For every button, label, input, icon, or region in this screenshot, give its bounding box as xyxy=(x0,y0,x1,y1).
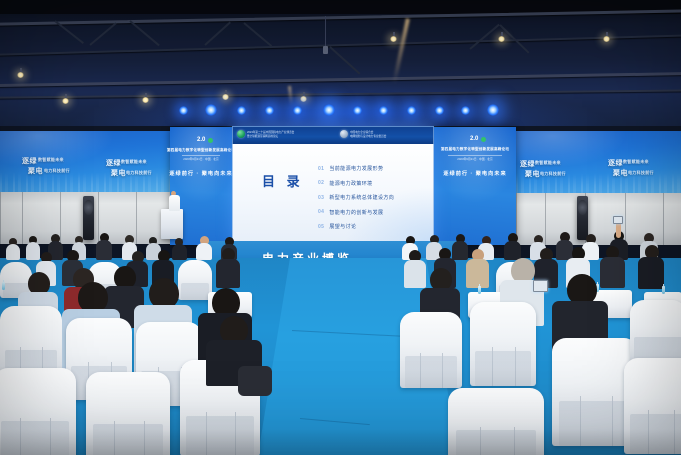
truss-diagonal xyxy=(89,22,116,45)
audience-chair xyxy=(630,300,681,364)
toc-item: 01 当前能源电力发展形势 xyxy=(318,165,428,172)
wall-banner-left-title: 逐绿 xyxy=(22,156,37,166)
presenter-speaker xyxy=(168,191,180,211)
wall-banner-left-sub1: 数智赋能未来 xyxy=(38,157,64,163)
drop-fixture-box xyxy=(323,46,328,54)
audience-member xyxy=(238,366,272,400)
ceiling-lamp-icon xyxy=(498,36,505,42)
ceiling-lamp-icon xyxy=(603,36,610,42)
smartphone-screen xyxy=(533,280,548,292)
toc-item: 02 能源电力政策环境 xyxy=(318,180,428,187)
toc-item: 05 展望与讨论 xyxy=(318,223,428,230)
wall-banner-right-title: 逐绿 xyxy=(520,159,535,169)
water-bottle xyxy=(662,286,665,294)
emblem-logo-icon xyxy=(340,130,348,138)
tower-left-logo-dot-icon xyxy=(208,138,213,143)
tower-left-sub: 2023年9月21日 · 中国 · 北京 xyxy=(183,157,218,161)
tower-left-heading: 第四届电力数字化转型创新发展高峰论坛 xyxy=(167,148,235,153)
slide-header-right-line1: 中国电力企业联合会 xyxy=(350,131,386,134)
slide-title: 目 录 xyxy=(262,171,304,190)
wall-banner-left-title2: 聚电 xyxy=(28,166,43,176)
ceiling-lamp-icon xyxy=(390,36,397,42)
wall-banner-right-sub2-b: 电力科技前行 xyxy=(628,170,654,176)
wall-banner-left-sub1-b: 数智赋能未来 xyxy=(121,159,147,165)
slide-header-right-text: 中国电力企业联合会 电网规划与设计电力专业委员会 xyxy=(350,131,386,138)
ceiling xyxy=(0,0,681,132)
audience-chair xyxy=(400,312,462,388)
wall-banner-right-sub1-b: 数智赋能未来 xyxy=(623,159,649,165)
conference-hall-photo: 逐绿 数智赋能未来 聚电 电力科技前行 逐绿 数智赋能未来 聚电 电力科技前行 … xyxy=(0,0,681,455)
smartphone-screen xyxy=(613,216,623,224)
slide-header-bar: 2023年第二十届中国国际电力产业博览会 暨全球能源互联网高峰论坛 中国电力企业… xyxy=(232,126,434,144)
roof-truss-beam xyxy=(0,34,681,56)
tower-right-sub: 2023年9月21日 · 中国 · 北京 xyxy=(457,157,492,161)
presentation-screen[interactable]: 2023年第二十届中国国际电力产业博览会 暨全球能源互联网高峰论坛 中国电力企业… xyxy=(232,126,434,242)
ceiling-lamp-icon xyxy=(62,98,69,104)
toc-number: 04 xyxy=(318,209,324,215)
slide-header-right-logo-group: 中国电力企业联合会 电网规划与设计电力专业委员会 xyxy=(340,130,386,138)
audience-member xyxy=(6,238,20,260)
audience-chair xyxy=(624,358,681,454)
wall-banner-right-sub2: 电力科技前行 xyxy=(540,171,566,177)
ceiling-lamp-icon xyxy=(142,97,149,103)
podium xyxy=(161,209,183,239)
wall-banner-left-sub2-b: 电力科技前行 xyxy=(126,170,152,176)
toc-label: 当前能源电力发展形势 xyxy=(329,165,383,172)
ceiling-lamp-icon xyxy=(17,72,24,78)
slide-header-left-line2: 暨全球能源互联网高峰论坛 xyxy=(247,135,294,138)
wall-banner-right-sub1: 数智赋能未来 xyxy=(535,160,561,166)
truss-diagonal xyxy=(469,24,499,50)
audience-member xyxy=(504,233,521,260)
panel-seam xyxy=(22,192,23,244)
wall-banner-left-sub2: 电力科技前行 xyxy=(44,168,70,174)
truss-diagonal xyxy=(129,20,159,46)
audience-chair xyxy=(448,388,544,455)
tower-left-logo: 2.0 xyxy=(197,137,205,143)
audience-chair xyxy=(0,368,76,455)
toc-label: 能源电力政策环境 xyxy=(329,180,372,187)
slide-toc-list: 01 当前能源电力发展形势 02 能源电力政策环境 03 新型电力系统总体建设方… xyxy=(318,165,428,238)
tower-right-logo-dot-icon xyxy=(481,137,486,142)
truss-diagonal xyxy=(243,22,272,47)
stage-led-bar xyxy=(175,104,505,124)
audience-member xyxy=(638,245,664,289)
audience-member xyxy=(216,248,240,288)
wall-banner-left-title2-b: 聚电 xyxy=(111,168,126,178)
wall-banner-right-title-b: 逐绿 xyxy=(608,158,623,168)
water-bottle xyxy=(2,282,5,290)
audience-member xyxy=(96,233,112,260)
truss-diagonal xyxy=(204,22,231,46)
toc-number: 03 xyxy=(318,195,324,201)
toc-number: 05 xyxy=(318,224,324,230)
audience-chair xyxy=(470,302,536,386)
wall-banner-right-title2-b: 聚电 xyxy=(613,168,628,178)
tower-right-logo: 2.0 xyxy=(470,136,478,142)
toc-label: 新型电力系统总体建设方向 xyxy=(329,194,394,201)
slide-header-left-text: 2023年第二十届中国国际电力产业博览会 暨全球能源互联网高峰论坛 xyxy=(247,131,294,138)
toc-item: 04 智能电力的创新与发展 xyxy=(318,209,428,216)
slide-header-right-line2: 电网规划与设计电力专业委员会 xyxy=(350,135,386,138)
wall-banner-left-title-b: 逐绿 xyxy=(106,158,121,168)
side-banner-tower-right xyxy=(434,127,516,245)
slide-body: 目 录 01 当前能源电力发展形势 02 能源电力政策环境 03 新型电力系统总… xyxy=(232,144,434,242)
globe-logo-icon xyxy=(237,130,245,138)
panel-seam xyxy=(663,193,664,245)
water-bottle xyxy=(478,286,481,294)
tower-left-rule xyxy=(182,155,220,156)
slide-header-left-line1: 2023年第二十届中国国际电力产业博览会 xyxy=(247,131,294,134)
audience-member xyxy=(172,238,187,260)
toc-item: 03 新型电力系统总体建设方向 xyxy=(318,194,428,201)
toc-label: 智能电力的创新与发展 xyxy=(329,209,383,216)
ceiling-drop-cable xyxy=(325,16,326,54)
audience-member xyxy=(466,249,489,288)
toc-label: 展望与讨论 xyxy=(329,223,356,230)
tower-right-rule xyxy=(448,155,502,156)
toc-number: 02 xyxy=(318,180,324,186)
tower-right-tagline: 逐绿前行 · 聚电向未来 xyxy=(443,170,506,177)
audience-chair xyxy=(86,372,170,455)
tower-right-heading: 第四届电力数字化转型创新发展高峰论坛 xyxy=(441,147,509,152)
tower-left-tagline: 逐绿前行 · 聚电向未来 xyxy=(169,170,232,177)
toc-number: 01 xyxy=(318,166,324,172)
slide-header-left-logo-group: 2023年第二十届中国国际电力产业博览会 暨全球能源互联网高峰论坛 xyxy=(237,130,294,138)
pa-speaker-left xyxy=(83,196,94,240)
audience-member-raised-arm xyxy=(616,222,622,238)
wall-banner-right-title2: 聚电 xyxy=(525,169,540,179)
audience-member xyxy=(196,236,212,260)
